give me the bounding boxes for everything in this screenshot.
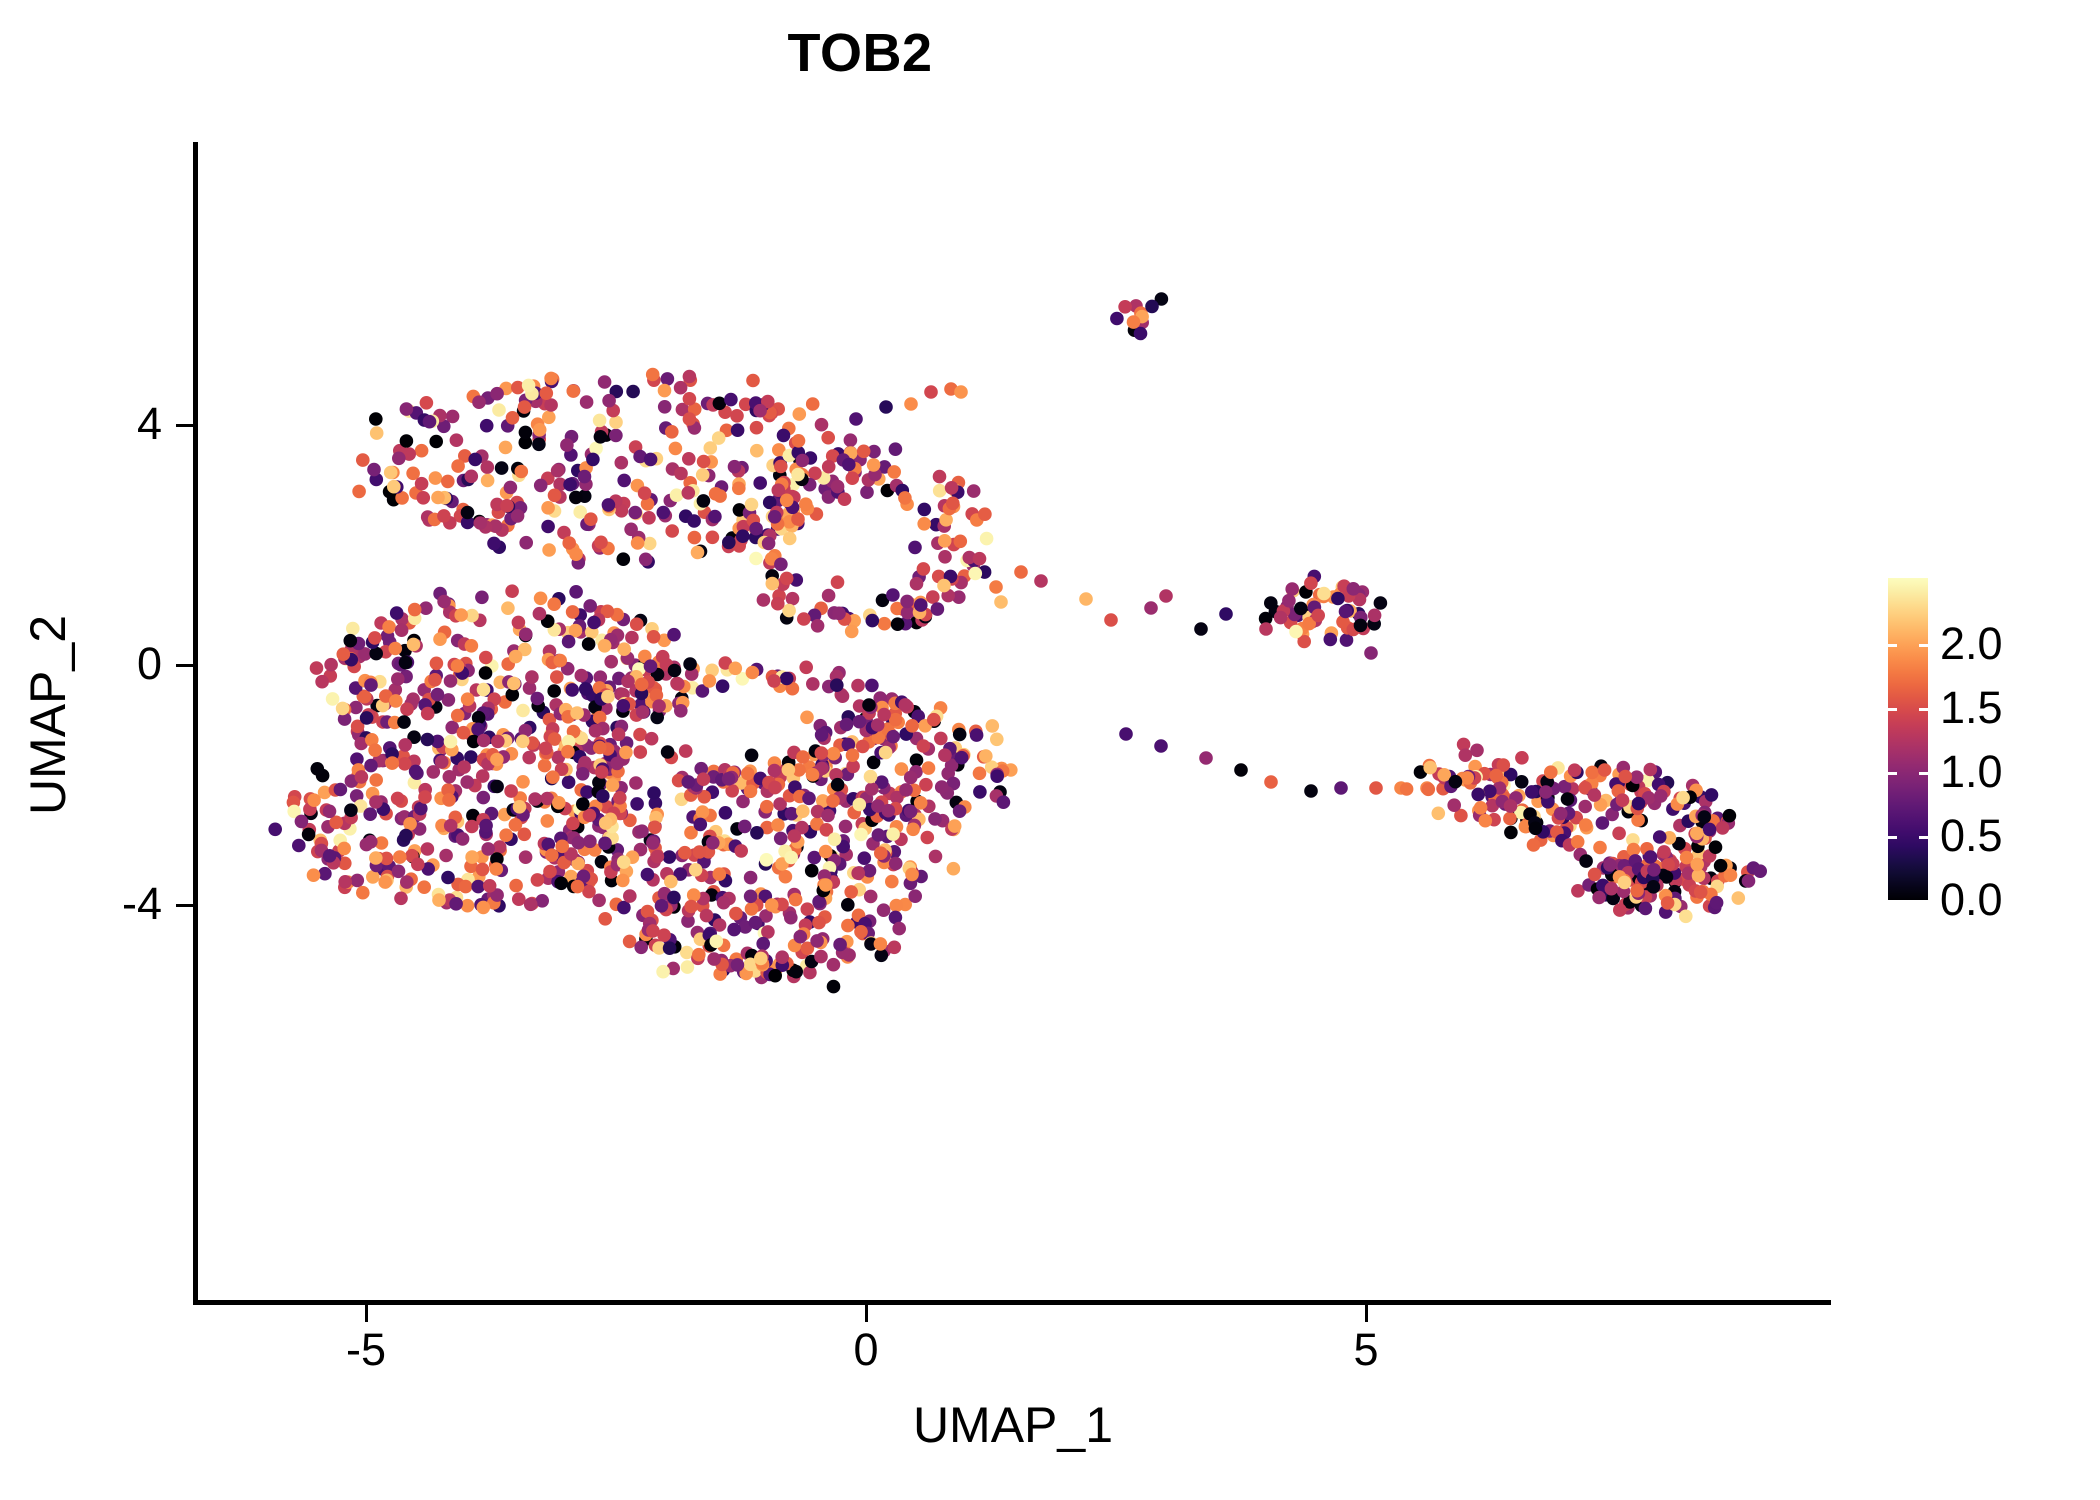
scatter-point <box>392 865 406 879</box>
scatter-point <box>1698 810 1712 824</box>
scatter-point <box>504 784 518 798</box>
scatter-point <box>900 595 914 609</box>
scatter-point <box>886 730 900 744</box>
scatter-point <box>483 879 497 893</box>
scatter-point <box>888 941 902 955</box>
scatter-point <box>461 506 475 520</box>
scatter-point <box>812 916 826 930</box>
scatter-point <box>1119 727 1133 741</box>
scatter-point <box>613 791 627 805</box>
scatter-point <box>616 874 630 888</box>
scatter-point <box>789 893 803 907</box>
scatter-point <box>519 426 533 440</box>
scatter-point <box>782 604 796 618</box>
scatter-point <box>1449 775 1463 789</box>
scatter-point <box>908 541 922 555</box>
scatter-point <box>917 739 931 753</box>
scatter-point <box>604 655 618 669</box>
scatter-point <box>569 491 583 505</box>
scatter-point <box>519 536 533 550</box>
scatter-point <box>647 630 661 644</box>
scatter-point <box>665 425 679 439</box>
scatter-point <box>799 497 813 511</box>
scatter-point <box>689 863 703 877</box>
scatter-point <box>1459 748 1473 762</box>
scatter-point <box>490 780 504 794</box>
scatter-point <box>800 711 814 725</box>
scatter-point <box>722 536 736 550</box>
scatter-point <box>493 840 507 854</box>
scatter-point <box>782 763 796 777</box>
scatter-point <box>400 402 414 416</box>
scatter-point <box>683 657 697 671</box>
scatter-point <box>867 458 881 472</box>
scatter-point <box>906 823 920 837</box>
scatter-point <box>948 819 962 833</box>
scatter-point <box>810 934 824 948</box>
scatter-point <box>516 735 530 749</box>
scatter-point <box>644 659 658 673</box>
scatter-point <box>635 678 649 692</box>
scatter-point <box>846 748 860 762</box>
scatter-point <box>1710 896 1724 910</box>
scatter-point <box>696 468 710 482</box>
scatter-point <box>854 925 868 939</box>
scatter-point <box>854 828 868 842</box>
scatter-point <box>411 858 425 872</box>
scatter-point <box>646 368 660 382</box>
scatter-point <box>378 875 392 889</box>
scatter-point <box>1742 874 1756 888</box>
scatter-point <box>784 911 798 925</box>
scatter-point <box>833 938 847 952</box>
scatter-point <box>732 482 746 496</box>
scatter-point <box>449 897 463 911</box>
scatter-point <box>997 795 1011 809</box>
scatter-point <box>442 793 456 807</box>
scatter-point <box>796 454 810 468</box>
scatter-point <box>1234 763 1248 777</box>
scatter-point <box>435 755 449 769</box>
scatter-point <box>519 628 533 642</box>
scatter-point <box>774 460 788 474</box>
scatter-point <box>806 677 820 691</box>
scatter-point <box>862 698 876 712</box>
scatter-point <box>572 836 586 850</box>
scatter-point <box>973 552 987 566</box>
scatter-point <box>661 372 675 386</box>
scatter-point <box>612 728 626 742</box>
scatter-point <box>684 900 698 914</box>
scatter-point <box>534 592 548 606</box>
scatter-point <box>652 699 666 713</box>
scatter-point <box>831 575 845 589</box>
scatter-point <box>1264 596 1278 610</box>
scatter-point <box>391 792 405 806</box>
scatter-point <box>706 531 720 545</box>
scatter-point <box>719 806 733 820</box>
scatter-point <box>593 741 607 755</box>
scatter-point <box>1605 882 1619 896</box>
scatter-point <box>1598 763 1612 777</box>
scatter-point <box>392 452 406 466</box>
scatter-point <box>828 833 842 847</box>
scatter-point <box>346 622 360 636</box>
scatter-point <box>638 486 652 500</box>
scatter-point <box>1525 785 1539 799</box>
scatter-point <box>629 776 643 790</box>
scatter-point <box>908 889 922 903</box>
scatter-point <box>1616 793 1630 807</box>
scatter-point <box>761 925 775 939</box>
scatter-point <box>546 770 560 784</box>
scatter-point <box>1479 814 1493 828</box>
scatter-point <box>429 471 443 485</box>
scatter-point <box>369 412 383 426</box>
scatter-point <box>1527 838 1541 852</box>
scatter-point <box>481 460 495 474</box>
scatter-point <box>955 751 969 765</box>
scatter-point <box>384 466 398 480</box>
scatter-point <box>562 775 576 789</box>
scatter-point <box>1618 876 1632 890</box>
scatter-point <box>979 749 993 763</box>
scatter-point <box>830 678 844 692</box>
scatter-point <box>395 623 409 637</box>
scatter-point <box>892 922 906 936</box>
scatter-point <box>1339 605 1353 619</box>
scatter-point <box>444 819 458 833</box>
scatter-point <box>567 384 581 398</box>
scatter-point <box>295 815 309 829</box>
scatter-point <box>415 444 429 458</box>
scatter-point <box>1544 765 1558 779</box>
scatter-point <box>898 698 912 712</box>
scatter-point <box>454 608 468 622</box>
scatter-point <box>421 733 435 747</box>
colorbar-gradient <box>1888 578 1928 900</box>
scatter-point <box>625 631 639 645</box>
scatter-point <box>398 757 412 771</box>
scatter-point <box>1568 763 1582 777</box>
scatter-point <box>598 912 612 926</box>
scatter-point <box>1368 609 1382 623</box>
scatter-point <box>744 890 758 904</box>
scatter-point <box>292 839 306 853</box>
scatter-point <box>430 657 444 671</box>
scatter-point <box>1657 845 1671 859</box>
scatter-point <box>789 965 803 979</box>
scatter-point <box>655 899 669 913</box>
scatter-point <box>407 638 421 652</box>
scatter-point <box>729 907 743 921</box>
scatter-point <box>516 775 530 789</box>
scatter-point <box>1194 622 1208 636</box>
scatter-point <box>1647 863 1661 877</box>
scatter-point <box>533 607 547 621</box>
scatter-point <box>487 537 501 551</box>
scatter-point <box>1654 789 1668 803</box>
scatter-point <box>1603 858 1617 872</box>
scatter-point <box>519 850 533 864</box>
scatter-point <box>1709 840 1723 854</box>
scatter-point <box>1282 594 1296 608</box>
scatter-point <box>1690 858 1704 872</box>
scatter-point <box>969 567 983 581</box>
scatter-point <box>369 795 383 809</box>
scatter-point <box>703 674 717 688</box>
scatter-point <box>399 656 413 670</box>
scatter-point <box>885 875 899 889</box>
scatter-point <box>1690 827 1704 841</box>
scatter-point <box>822 589 836 603</box>
scatter-point <box>767 674 781 688</box>
scatter-point <box>352 485 366 499</box>
scatter-point <box>713 867 727 881</box>
scatter-point <box>683 392 697 406</box>
scatter-point <box>687 514 701 528</box>
scatter-point <box>683 370 697 384</box>
scatter-point <box>583 599 597 613</box>
scatter-point <box>865 679 879 693</box>
scatter-point <box>617 901 631 915</box>
colorbar-tick-mark <box>1919 644 1928 647</box>
scatter-point <box>491 735 505 749</box>
scatter-point <box>617 855 631 869</box>
scatter-point <box>368 743 382 757</box>
scatter-point <box>853 798 867 812</box>
scatter-point <box>479 666 493 680</box>
scatter-point <box>393 850 407 864</box>
scatter-point <box>551 464 565 478</box>
scatter-point <box>626 385 640 399</box>
scatter-point <box>415 477 429 491</box>
colorbar-tick-label: 1.5 <box>1940 685 2070 730</box>
scatter-point <box>432 893 446 907</box>
scatter-point <box>1144 601 1158 615</box>
scatter-point <box>791 468 805 482</box>
scatter-point <box>437 595 451 609</box>
scatter-point <box>400 702 414 716</box>
scatter-point <box>593 414 607 428</box>
scatter-point <box>1732 891 1746 905</box>
scatter-point <box>904 771 918 785</box>
scatter-point <box>394 892 408 906</box>
scatter-point <box>492 403 506 417</box>
scatter-point <box>865 782 879 796</box>
scatter-point <box>928 812 942 826</box>
scatter-point <box>1753 864 1767 878</box>
scatter-point <box>898 491 912 505</box>
scatter-point <box>465 639 479 653</box>
scatter-point <box>663 941 677 955</box>
scatter-point <box>839 820 853 834</box>
scatter-point <box>796 804 810 818</box>
scatter-point <box>1627 843 1641 857</box>
scatter-point <box>679 744 693 758</box>
scatter-point <box>891 617 905 631</box>
scatter-point <box>1334 781 1348 795</box>
colorbar-tick-label: 1.0 <box>1940 749 2070 794</box>
scatter-point <box>664 875 678 889</box>
scatter-point <box>518 400 532 414</box>
scatter-point <box>1422 783 1436 797</box>
scatter-point <box>584 512 598 526</box>
scatter-point <box>550 670 564 684</box>
scatter-point <box>805 864 819 878</box>
scatter-point <box>592 894 606 908</box>
scatter-point <box>589 724 603 738</box>
scatter-point <box>534 479 548 493</box>
scatter-point <box>1311 609 1325 623</box>
scatter-point <box>744 871 758 885</box>
scatter-point <box>310 661 324 675</box>
scatter-point <box>418 790 432 804</box>
scatter-point <box>768 781 782 795</box>
scatter-point <box>841 898 855 912</box>
scatter-point <box>1400 782 1414 796</box>
scatter-point <box>1354 619 1368 633</box>
scatter-point <box>910 753 924 767</box>
scatter-point <box>606 778 620 792</box>
scatter-point <box>846 471 860 485</box>
scatter-point <box>1694 885 1708 899</box>
scatter-point <box>511 509 525 523</box>
scatter-point <box>819 845 833 859</box>
scatter-point <box>417 880 431 894</box>
scatter-point <box>1632 797 1646 811</box>
scatter-point <box>766 577 780 591</box>
scatter-point <box>541 814 555 828</box>
scatter-point <box>849 412 863 426</box>
scatter-point <box>877 708 891 722</box>
scatter-point <box>851 679 865 693</box>
scatter-point <box>821 809 835 823</box>
scatter-point <box>548 489 562 503</box>
scatter-point <box>351 874 365 888</box>
scatter-point <box>713 397 727 411</box>
scatter-point <box>599 816 613 830</box>
scatter-point <box>533 423 547 437</box>
scatter-point <box>579 682 593 696</box>
scatter-point <box>1676 791 1690 805</box>
scatter-point <box>656 965 670 979</box>
scatter-point <box>509 650 523 664</box>
scatter-point <box>1515 751 1529 765</box>
scatter-point <box>499 441 513 455</box>
scatter-point <box>1110 312 1124 326</box>
scatter-point <box>423 415 437 429</box>
colorbar-tick-mark <box>1919 772 1928 775</box>
scatter-point <box>745 902 759 916</box>
scatter-point <box>645 732 659 746</box>
scatter-point <box>500 499 514 513</box>
scatter-point <box>474 516 488 530</box>
scatter-point <box>400 434 414 448</box>
scatter-point <box>1289 625 1303 639</box>
scatter-point <box>578 470 592 484</box>
scatter-point <box>439 849 453 863</box>
plot-title: TOB2 <box>0 24 2100 83</box>
scatter-point <box>609 415 623 429</box>
scatter-point <box>811 619 825 633</box>
scatter-point <box>762 537 776 551</box>
scatter-point <box>431 491 445 505</box>
scatter-point <box>1539 785 1553 799</box>
scatter-point <box>555 840 569 854</box>
scatter-point <box>1504 826 1518 840</box>
scatter-point <box>1294 602 1308 616</box>
scatter-point <box>682 452 696 466</box>
scatter-point <box>1661 896 1675 910</box>
scatter-point <box>667 628 681 642</box>
scatter-point <box>441 475 455 489</box>
scatter-point <box>634 941 648 955</box>
scatter-point <box>1679 910 1693 924</box>
scatter-point <box>539 742 553 756</box>
y-tick-mark <box>176 424 193 427</box>
scatter-point <box>337 647 351 661</box>
scatter-point <box>753 476 767 490</box>
scatter-points-layer <box>195 142 1831 1303</box>
scatter-point <box>678 846 692 860</box>
scatter-point <box>708 510 722 524</box>
scatter-point <box>840 718 854 732</box>
scatter-point <box>552 796 566 810</box>
scatter-point <box>397 715 411 729</box>
scatter-point <box>814 950 828 964</box>
scatter-point <box>794 930 808 944</box>
scatter-point <box>541 501 555 515</box>
scatter-point <box>774 832 788 846</box>
scatter-point <box>512 892 526 906</box>
scatter-point <box>858 851 872 865</box>
scatter-point <box>905 719 919 733</box>
scatter-point <box>990 769 1004 783</box>
scatter-point <box>667 891 681 905</box>
scatter-point <box>598 639 612 653</box>
scatter-point <box>670 488 684 502</box>
scatter-point <box>1593 841 1607 855</box>
scatter-point <box>337 842 351 856</box>
scatter-point <box>513 800 527 814</box>
scatter-point <box>1461 771 1475 785</box>
scatter-point <box>334 783 348 797</box>
scatter-point <box>937 579 951 593</box>
scatter-point <box>851 866 865 880</box>
scatter-point <box>696 805 710 819</box>
scatter-point <box>954 535 968 549</box>
scatter-point <box>647 786 661 800</box>
scatter-point <box>318 867 332 881</box>
colorbar-tick-label: 2.0 <box>1940 621 2070 666</box>
scatter-point <box>768 969 782 983</box>
scatter-point <box>757 593 771 607</box>
scatter-point <box>1561 792 1575 806</box>
scatter-point <box>532 438 546 452</box>
scatter-point <box>1644 850 1658 864</box>
scatter-point <box>687 888 701 902</box>
scatter-point <box>1127 315 1141 329</box>
scatter-point <box>444 674 458 688</box>
scatter-point <box>617 699 631 713</box>
scatter-point <box>919 778 933 792</box>
scatter-point <box>576 767 590 781</box>
scatter-point <box>990 733 1004 747</box>
scatter-point <box>602 394 616 408</box>
scatter-point <box>641 905 655 919</box>
scatter-point <box>1630 884 1644 898</box>
